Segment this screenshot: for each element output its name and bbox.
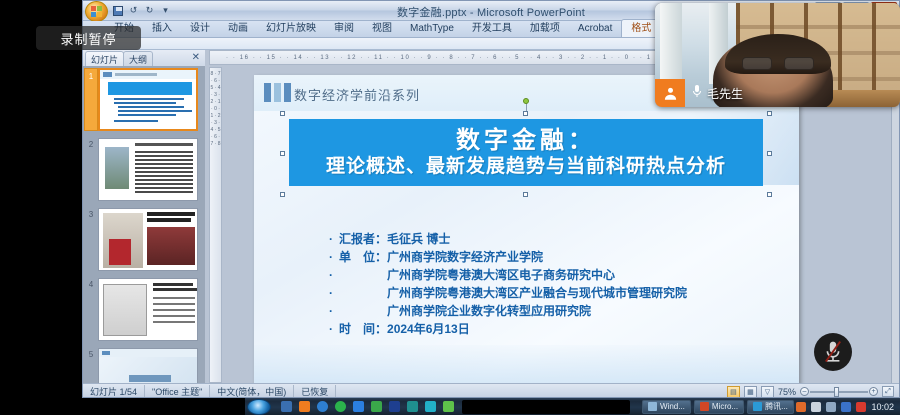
- taskbar-left-filler: [0, 398, 245, 415]
- status-theme: "Office 主题": [145, 385, 210, 399]
- line-value: 广州商学院企业数字化转型应用研究院: [387, 304, 591, 318]
- ribbon-tab-1[interactable]: 插入: [143, 20, 181, 37]
- line-label: 单 位：: [339, 248, 387, 266]
- taskbar-app-label: 腾讯...: [765, 401, 788, 412]
- slide-editing-stage[interactable]: 数字经济学前沿系列: [224, 67, 889, 385]
- vertical-ruler: 8 · 7 · 6 · 5 · 4 · 3 · 2 · 1 · 0 · 1 · …: [209, 67, 222, 383]
- powerpoint-icon: [700, 402, 709, 411]
- fit-to-window-icon[interactable]: ⤢: [882, 386, 894, 397]
- thumbnail-number: 4: [84, 278, 98, 289]
- view-normal-icon[interactable]: ▤: [727, 386, 740, 398]
- resize-handle-sw[interactable]: [280, 192, 285, 197]
- line-label: 时 间：: [339, 320, 387, 338]
- status-slide-counter: 幻灯片 1/54: [83, 385, 145, 399]
- explorer-icon: [648, 402, 657, 411]
- quick-launch-group: [281, 401, 454, 412]
- status-right-group: ▤ ▦ ▽ 75% – + ⤢: [727, 386, 899, 398]
- microphone-muted-icon[interactable]: [814, 333, 852, 371]
- thumbnail-number: 1: [84, 68, 98, 131]
- recording-paused-label: 录制暂停: [60, 29, 116, 48]
- ribbon-tab-3[interactable]: 动画: [219, 20, 257, 37]
- taskbar-app-buttons: Wind...Micro...腾讯...: [642, 400, 794, 414]
- line-value: 广州商学院粤港澳大湾区电子商务研究中心: [387, 268, 615, 282]
- view-slideshow-icon[interactable]: ▽: [761, 386, 774, 398]
- close-panel-icon[interactable]: ✕: [192, 52, 200, 63]
- volume-icon[interactable]: [796, 402, 806, 412]
- chrome-icon[interactable]: [335, 401, 346, 412]
- participant-glasses: [742, 57, 814, 70]
- ribbon-tab-2[interactable]: 设计: [181, 20, 219, 37]
- notification-red-icon[interactable]: [856, 402, 866, 412]
- bullet-icon: ·: [329, 266, 339, 284]
- slide-thumbnail-2[interactable]: 2: [84, 138, 205, 205]
- line-label: 汇报者：: [339, 230, 387, 248]
- zoom-slider-handle[interactable]: [834, 387, 839, 397]
- slide-body-line-1: ·单 位：广州商学院数字经济产业学院: [329, 248, 769, 266]
- taskbar-app-label: Micro...: [712, 402, 738, 411]
- taskbar-app-0[interactable]: Wind...: [642, 400, 691, 414]
- slide-title-line1: 数字金融：: [289, 127, 763, 155]
- recording-paused-overlay[interactable]: 录制暂停: [36, 26, 141, 50]
- ribbon-tab-8[interactable]: 开发工具: [463, 20, 521, 37]
- thumbnail-preview[interactable]: [98, 68, 198, 131]
- bullet-icon: ·: [329, 248, 339, 266]
- panel-tab-strip: 幻灯片 大纲 ✕: [83, 50, 205, 66]
- person-icon: [655, 79, 685, 107]
- ribbon-tab-10[interactable]: Acrobat: [569, 20, 621, 37]
- participant-name-group: 毛先生: [685, 79, 752, 107]
- curtain-left: [660, 3, 682, 84]
- line-value: 2024年6月13日: [387, 322, 470, 336]
- zoom-track: [810, 391, 868, 393]
- ribbon-tab-9[interactable]: 加载项: [521, 20, 569, 37]
- battery-icon[interactable]: [811, 402, 821, 412]
- tab-slides[interactable]: 幻灯片: [85, 51, 124, 67]
- slide-body-line-2: ·广州商学院粤港澳大湾区电子商务研究中心: [329, 266, 769, 284]
- zoom-slider[interactable]: – +: [800, 386, 878, 398]
- header-bars-icon: [264, 83, 291, 102]
- taskbar-clock[interactable]: 10:02: [871, 402, 894, 412]
- start-orb-icon[interactable]: [247, 399, 271, 415]
- ribbon-tab-4[interactable]: 幻灯片放映: [257, 20, 325, 37]
- resize-handle-n[interactable]: [523, 111, 528, 116]
- slide-body-textbox[interactable]: ·汇报者：毛征兵 博士·单 位：广州商学院数字经济产业学院·广州商学院粤港澳大湾…: [329, 230, 769, 338]
- slide-thumbnail-4[interactable]: 4: [84, 278, 205, 345]
- resize-handle-ne[interactable]: [767, 111, 772, 116]
- thumbnail-number: 5: [84, 348, 98, 359]
- taskbar-app-1[interactable]: Micro...: [694, 400, 744, 414]
- resize-handle-e[interactable]: [767, 151, 772, 156]
- zoom-in-button[interactable]: +: [869, 387, 878, 396]
- app-orange-icon[interactable]: [299, 401, 310, 412]
- thumbnail-scrollbar[interactable]: [891, 66, 899, 398]
- status-language[interactable]: 中文(简体，中国): [210, 385, 294, 399]
- thumbnail-number: 2: [84, 138, 98, 149]
- desktop-screen: ↺ ↻ ▾ 数字金融.pptx - Microsoft PowerPoint 绘…: [0, 0, 900, 415]
- slide-title-textbox[interactable]: 数字金融： 理论概述、最新发展趋势与当前科研热点分析: [289, 119, 763, 186]
- webcam-video-overlay[interactable]: 毛先生: [655, 3, 900, 107]
- slide-body-line-5: ·时 间：2024年6月13日: [329, 320, 769, 338]
- app-navy-icon[interactable]: [389, 401, 400, 412]
- app-cyan-icon[interactable]: [425, 401, 436, 412]
- zoom-out-button[interactable]: –: [800, 387, 809, 396]
- status-bar: 幻灯片 1/54 "Office 主题" 中文(简体，中国) 已恢复 ▤ ▦ ▽…: [83, 383, 899, 398]
- zoom-level-label[interactable]: 75%: [778, 387, 796, 397]
- slide-body-line-4: ·广州商学院企业数字化转型应用研究院: [329, 302, 769, 320]
- app-lime-icon[interactable]: [443, 401, 454, 412]
- slide-body-line-3: ·广州商学院粤港澳大湾区产业融合与现代城市管理研究院: [329, 284, 769, 302]
- slide-title-line2: 理论概述、最新发展趋势与当前科研热点分析: [289, 155, 763, 179]
- rotation-handle[interactable]: [523, 98, 529, 104]
- resize-handle-se[interactable]: [767, 192, 772, 197]
- microphone-icon: [691, 84, 703, 102]
- participant-name: 毛先生: [707, 85, 743, 102]
- title-block: 数字金融： 理论概述、最新发展趋势与当前科研热点分析: [289, 123, 763, 186]
- app-blue-icon[interactable]: [353, 401, 364, 412]
- bluetooth-icon[interactable]: [826, 402, 836, 412]
- line-value: 毛征兵 博士: [387, 232, 450, 246]
- slide-body-line-0: ·汇报者：毛征兵 博士: [329, 230, 769, 248]
- ribbon-tab-7[interactable]: MathType: [401, 20, 463, 37]
- tab-outline[interactable]: 大纲: [123, 51, 153, 67]
- slide-canvas[interactable]: 数字经济学前沿系列: [254, 75, 799, 385]
- status-recovered: 已恢复: [294, 385, 336, 399]
- windows-taskbar: Wind...Micro...腾讯... 10:02: [0, 398, 900, 415]
- thumbnail-preview[interactable]: [98, 138, 198, 201]
- slide-thumbnail-list[interactable]: 123456: [83, 66, 205, 398]
- slide-decoration-bottom: [254, 345, 799, 385]
- participant-badge: 毛先生: [655, 79, 752, 107]
- thumbnail-preview[interactable]: [98, 208, 198, 271]
- resize-handle-nw[interactable]: [280, 111, 285, 116]
- resize-handle-s[interactable]: [523, 192, 528, 197]
- ribbon-tab-6[interactable]: 视图: [363, 20, 401, 37]
- network-icon[interactable]: [841, 402, 851, 412]
- taskbar-app-2[interactable]: 腾讯...: [747, 400, 794, 414]
- thumbnail-preview[interactable]: [98, 278, 198, 341]
- bullet-icon: ·: [329, 320, 339, 338]
- line-value: 广州商学院粤港澳大湾区产业融合与现代城市管理研究院: [387, 286, 687, 300]
- ribbon-tab-5[interactable]: 审阅: [325, 20, 363, 37]
- bullet-icon: ·: [329, 302, 339, 320]
- slide-thumbnail-3[interactable]: 3: [84, 208, 205, 275]
- bullet-icon: ·: [329, 230, 339, 248]
- bullet-icon: ·: [329, 284, 339, 302]
- app-green-icon[interactable]: [371, 401, 382, 412]
- app-teal-icon[interactable]: [407, 401, 418, 412]
- tencent-icon: [753, 402, 762, 411]
- system-tray: 10:02: [796, 402, 900, 412]
- taskbar-app-label: Wind...: [660, 402, 685, 411]
- line-value: 广州商学院数字经济产业学院: [387, 250, 543, 264]
- taskbar-black-region: [462, 400, 630, 414]
- thumbnail-number: 3: [84, 208, 98, 219]
- view-slide-sorter-icon[interactable]: ▦: [744, 386, 757, 398]
- ie-icon[interactable]: [317, 401, 328, 412]
- slide-header-text: 数字经济学前沿系列: [294, 85, 420, 104]
- resize-handle-w[interactable]: [280, 151, 285, 156]
- slide-thumbnail-1[interactable]: 1: [84, 68, 205, 135]
- windows-icon[interactable]: [281, 401, 292, 412]
